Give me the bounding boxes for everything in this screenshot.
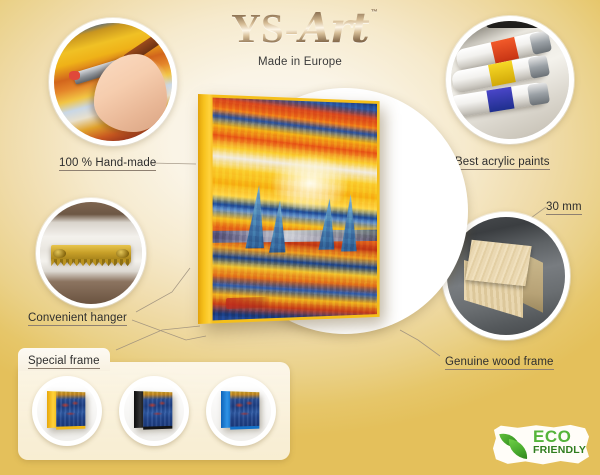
logo-text-dash: -: [284, 5, 300, 51]
trademark-symbol: ™: [371, 9, 378, 16]
hero-painting: [213, 95, 380, 324]
photo-paint-tubes: [451, 21, 569, 139]
painting-artwork: [213, 98, 377, 321]
leader-line-hanger: [136, 268, 190, 312]
eco-badge-line2: FRIENDLY: [533, 445, 586, 456]
frame-option-black[interactable]: [119, 376, 189, 446]
paint-blob: [69, 71, 80, 79]
logo-text-art: Art: [299, 4, 368, 52]
impasto-texture: [213, 98, 377, 321]
eco-badge-line1: ECO: [533, 429, 586, 445]
frame-thumb-yellow: [47, 391, 86, 428]
infographic-canvas: YS-Art ™ Made in Europe 100 % Hand-made: [0, 0, 600, 475]
hero-canvas-frame: [198, 94, 380, 324]
callout-label-wood-frame: Genuine wood frame: [445, 356, 554, 370]
hanger-plate: [51, 245, 131, 262]
callout-label-thickness: 30 mm: [546, 201, 582, 215]
callout-photo-hand-made: [49, 18, 177, 146]
logo-text-ys: YS: [231, 5, 283, 51]
callout-label-hanger: Convenient hanger: [28, 312, 127, 326]
frame-thumb-black: [134, 391, 173, 428]
frame-thumb-blue: [221, 391, 260, 428]
frame-option-blue[interactable]: [206, 376, 276, 446]
wood-block-top: [466, 240, 533, 287]
frame-option-yellow[interactable]: [32, 376, 102, 446]
photo-hand-painting: [54, 23, 172, 141]
hanger-screw-left: [53, 249, 66, 259]
product-hero: [186, 86, 422, 344]
hanger-screw-right: [116, 249, 129, 259]
callout-photo-acrylic-paints: [446, 16, 574, 144]
photo-sawtooth-hanger: [40, 202, 142, 304]
special-frame-label: Special frame: [28, 355, 100, 369]
callout-label-hand-made: 100 % Hand-made: [59, 157, 156, 171]
special-frame-tab: Special frame: [18, 348, 110, 371]
special-frame-panel: [18, 362, 290, 460]
eco-friendly-badge: ECO FRIENDLY: [492, 424, 590, 466]
photo-shadow: [486, 21, 540, 28]
callout-photo-hanger: [36, 198, 146, 308]
hanger-sawtooth: [51, 259, 131, 266]
callout-label-acrylic-paints: Best acrylic paints: [455, 156, 550, 170]
artist-signature: [226, 296, 270, 308]
